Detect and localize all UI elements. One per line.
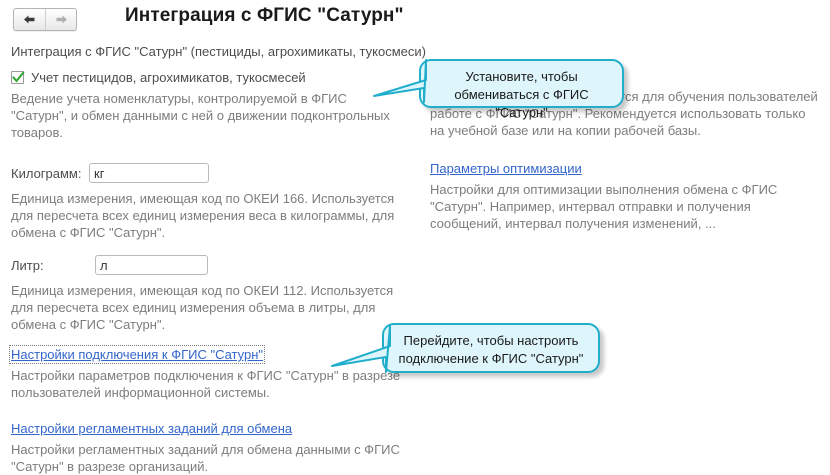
connection-settings-link[interactable]: Настройки подключения к ФГИС "Сатурн" [11,347,263,362]
back-button[interactable] [14,9,45,30]
intro-text: Интеграция с ФГИС "Сатурн" (пестициды, а… [11,44,426,59]
arrow-right-icon [54,14,69,25]
pesticides-checkbox-row[interactable]: Учет пестицидов, агрохимикатов, тукосмес… [11,70,411,85]
scheduled-jobs-link[interactable]: Настройки регламентных заданий для обмен… [11,421,292,436]
callout-checkbox-tail [366,58,456,108]
litre-field-row: Литр: [11,255,411,275]
page-title: Интеграция с ФГИС "Сатурн" [125,5,404,27]
pesticides-description: Ведение учета номенклатуры, контролируем… [11,90,403,141]
callout-connection-tail [320,322,420,378]
pesticides-checkbox[interactable] [11,71,24,84]
optimization-parameters-description: Настройки для оптимизации выполнения обм… [430,181,822,232]
optimization-parameters-link[interactable]: Параметры оптимизации [430,161,582,176]
kilogram-label: Килограмм: [11,166,89,181]
litre-input[interactable] [95,255,208,275]
callout-checkbox-line1: Установите, чтобы [433,68,610,86]
kilogram-field-row: Килограмм: [11,163,411,183]
litre-label: Литр: [11,258,95,273]
callout-connection-line2: подключение к ФГИС "Сатурн" [396,350,586,368]
callout-checkbox-line2: обмениваться с ФГИС "Сатурн" [433,86,610,122]
kilogram-description: Единица измерения, имеющая код по ОКЕИ 1… [11,190,396,241]
scheduled-jobs-description: Настройки регламентных заданий для обмен… [11,441,401,475]
forward-button[interactable] [45,9,76,30]
arrow-left-icon [22,14,37,25]
pesticides-checkbox-label: Учет пестицидов, агрохимикатов, тукосмес… [31,70,306,85]
left-column: Учет пестицидов, агрохимикатов, тукосмес… [11,70,411,475]
callout-connection-line1: Перейдите, чтобы настроить [396,332,586,350]
navigation-buttons [13,8,77,31]
kilogram-input[interactable] [89,163,209,183]
